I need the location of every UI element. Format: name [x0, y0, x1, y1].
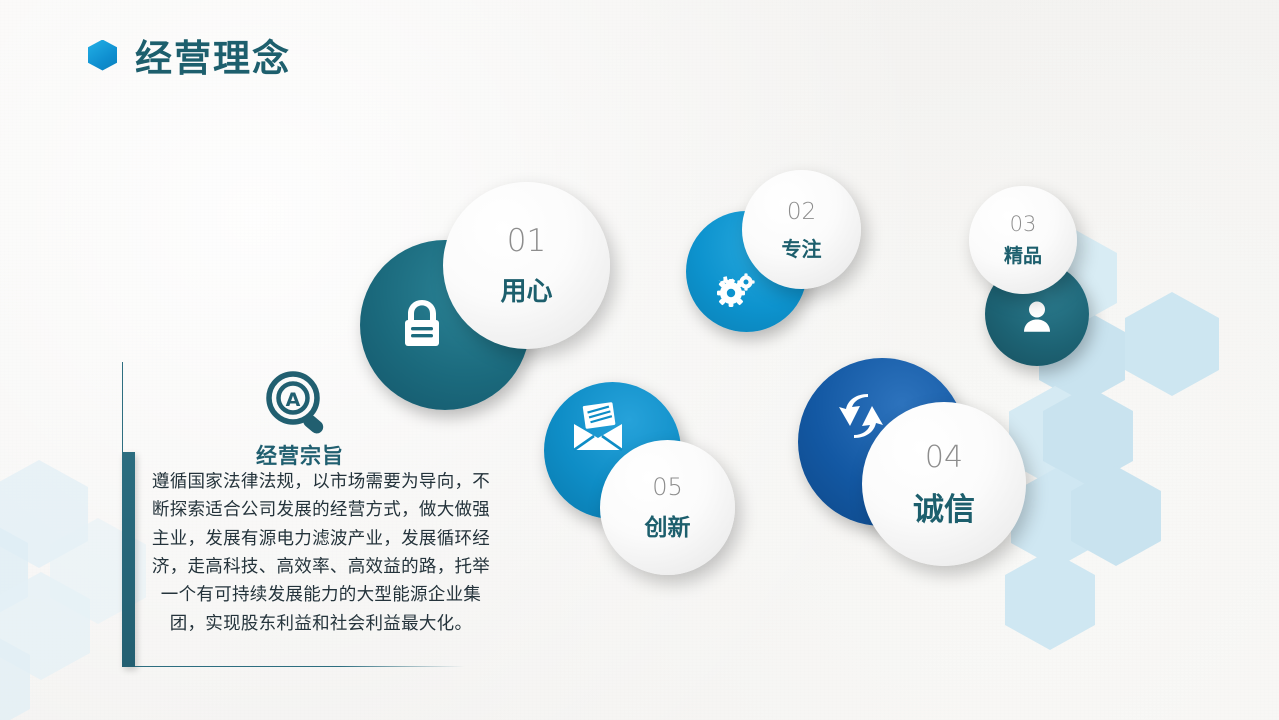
concept-label-circle-05[interactable]: 05 创新	[600, 440, 735, 575]
concept-number: 03	[1010, 214, 1037, 235]
person-icon	[1021, 300, 1053, 334]
concept-label-circle-04[interactable]: 04 诚信	[862, 402, 1026, 566]
purpose-header: A 经营宗旨	[170, 370, 430, 470]
svg-text:A: A	[286, 389, 301, 411]
slide-canvas: 经营理念 01 用心	[0, 0, 1279, 720]
lock-icon	[400, 298, 444, 350]
concept-number: 02	[787, 201, 816, 224]
concept-label-circle-01[interactable]: 01 用心	[443, 182, 610, 349]
concept-number: 05	[652, 475, 683, 499]
panel-accent-line	[122, 362, 123, 454]
page-header: 经营理念	[88, 28, 291, 82]
page-title: 经营理念	[135, 28, 291, 82]
hexagon-shape	[1005, 550, 1095, 650]
concept-label: 创新	[645, 517, 691, 540]
concept-label: 用心	[500, 279, 552, 305]
concept-label-circle-03[interactable]: 03 精品	[969, 186, 1077, 294]
hexagon-shape	[0, 516, 28, 624]
hexagon-shape	[0, 460, 88, 568]
purpose-body-text: 遵循国家法律法规，以市场需要为导向，不断探索适合公司发展的经营方式，做大做强主业…	[146, 468, 496, 638]
envelope-mail-icon	[570, 402, 626, 454]
hexagon-shape	[0, 628, 30, 720]
concept-label: 专注	[782, 239, 822, 259]
concept-label: 诚信	[913, 495, 975, 526]
hexagon-shape	[1125, 292, 1219, 396]
concept-label: 精品	[1004, 247, 1042, 266]
panel-accent-bar	[122, 452, 135, 667]
concept-number: 01	[507, 226, 546, 257]
concept-number: 04	[925, 443, 963, 473]
concept-label-circle-02[interactable]: 02 专注	[742, 170, 861, 289]
purpose-title: 经营宗旨	[256, 440, 344, 470]
magnifier-a-icon: A	[263, 370, 337, 438]
hexagon-shape	[1071, 466, 1161, 566]
panel-bottom-rule	[135, 666, 465, 667]
gears-icon	[716, 273, 756, 307]
hexagon-shape	[0, 572, 90, 680]
hexagon-shape	[1043, 386, 1133, 486]
hexagon-icon	[88, 40, 117, 71]
